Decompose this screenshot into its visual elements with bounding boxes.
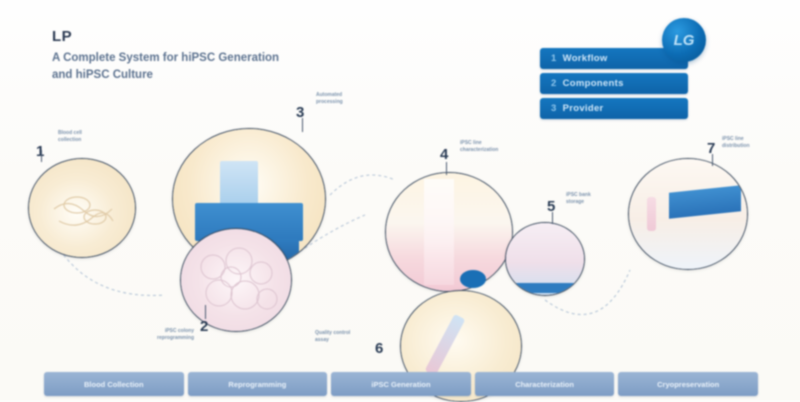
- nav-item-workflow-number: 1: [551, 53, 557, 64]
- company-logo-badge: LG: [662, 18, 706, 62]
- nav-button-group: 1 Workflow 2 Components 3 Provider: [540, 48, 688, 123]
- node-4-annotation: iPSC linecharacterization: [460, 140, 514, 153]
- footer-button-cryopreservation[interactable]: Cryopreservation: [618, 372, 758, 396]
- node-1-cells: [29, 159, 135, 257]
- workflow-node-6-number: 6: [375, 340, 383, 357]
- workflow-node-1[interactable]: [28, 158, 136, 258]
- workflow-node-4[interactable]: [385, 172, 513, 292]
- footer-button-blood-collection[interactable]: Blood Collection: [44, 372, 184, 396]
- node-1-leader-line: [41, 150, 42, 162]
- workflow-node-2[interactable]: [180, 228, 292, 332]
- node-4-leader-line: [446, 162, 447, 175]
- node-3-annotation: Automatedprocessing: [316, 92, 370, 105]
- logo-text: LG: [674, 32, 695, 49]
- footer-button-characterization[interactable]: Characterization: [475, 372, 615, 396]
- footer-button-reprogramming[interactable]: Reprogramming: [188, 372, 328, 396]
- nav-item-provider-label: Provider: [563, 103, 604, 114]
- node-7-annotation: iPSC linedistribution: [722, 136, 776, 149]
- node-5-leader-line: [552, 212, 553, 224]
- workflow-node-2-number: 2: [200, 318, 208, 335]
- subtitle-line-1: A Complete System for hiPSC Generation: [52, 50, 422, 67]
- node-2-annotation: iPSC colonyreprogramming: [140, 328, 194, 341]
- node-7-vial: [647, 197, 656, 231]
- nav-item-provider[interactable]: 3 Provider: [540, 98, 688, 119]
- footer-button-row: Blood Collection Reprogramming iPSC Gene…: [44, 372, 758, 396]
- footer-button-ipsc-generation[interactable]: iPSC Generation: [331, 372, 471, 396]
- workflow-node-7[interactable]: [628, 158, 748, 270]
- node-2-leader-line: [205, 305, 206, 319]
- node-6-annotation: Quality controlassay: [315, 330, 369, 343]
- workflow-junction-dot: [460, 270, 486, 288]
- node-3-instrument-top: [220, 161, 258, 205]
- workflow-node-5[interactable]: [505, 222, 585, 296]
- nav-item-components-number: 2: [551, 78, 557, 89]
- node-5-annotation: iPSC bankstorage: [566, 192, 620, 205]
- nav-item-components-label: Components: [563, 78, 624, 89]
- nav-item-provider-number: 3: [551, 103, 557, 114]
- node-4-highlight: [424, 179, 454, 285]
- node-7-leader-line: [712, 154, 713, 166]
- infographic-canvas: LP A Complete System for hiPSC Generatio…: [0, 0, 800, 400]
- nav-item-components[interactable]: 2 Components: [540, 73, 688, 94]
- workflow-node-4-number: 4: [440, 146, 448, 163]
- workflow-node-3-number: 3: [296, 104, 304, 121]
- node-3-leader-line: [302, 118, 303, 132]
- node-1-annotation: Blood cellcollection: [58, 130, 112, 143]
- page-title: LP: [52, 28, 72, 45]
- page-subtitle: A Complete System for hiPSC Generation a…: [52, 50, 422, 84]
- nav-item-workflow-label: Workflow: [563, 53, 608, 64]
- subtitle-line-2: and hiPSC Culture: [52, 67, 422, 84]
- node-2-colonies: [181, 229, 291, 331]
